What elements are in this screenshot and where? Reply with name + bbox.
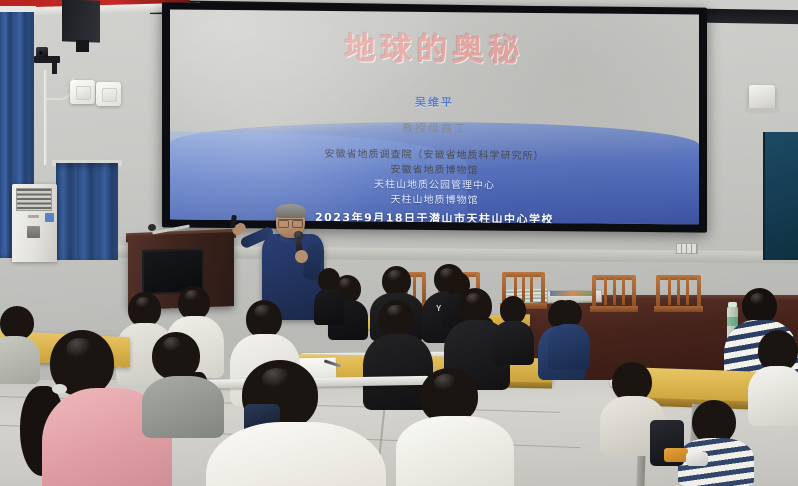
power-outlet[interactable] [676,243,698,254]
notice-board [763,132,798,260]
camera-arm [52,60,57,74]
air-conditioner[interactable] [12,184,57,262]
wall-switch-right[interactable] [96,82,121,106]
air-conditioner-grille [16,188,52,211]
wall-switch-left[interactable] [70,80,95,104]
classroom-door[interactable] [56,163,118,260]
wall-speaker [749,85,775,108]
ceiling-speaker [62,0,100,43]
hair-tie [52,384,67,394]
camera-lens-icon [38,50,44,56]
air-conditioner-sticker [45,213,54,222]
wooden-chair[interactable] [592,275,636,313]
air-conditioner-logo [28,215,39,218]
presenter-glasses [278,219,303,225]
ceiling-speaker-mount [76,40,89,52]
slide-author: 吴维平 [170,91,699,112]
projection-screen-surface: 地球的奥秘 吴维平 教授级高工 安徽省地质调查院（安徽省地质科学研究所） 安徽省… [170,9,699,224]
projection-screen: 地球的奥秘 吴维平 教授级高工 安徽省地质调查院（安徽省地质科学研究所） 安徽省… [162,2,707,232]
air-conditioner-display [27,226,40,238]
gooseneck-microphone-head [148,224,156,231]
handheld-microphone-head [294,231,303,239]
stationery-items [550,291,596,296]
water-bottle-label [727,317,738,326]
shoe [686,452,708,466]
bag-item [664,448,688,462]
water-bottle-cap [728,302,737,307]
classroom-lecture-photo: 地球的奥秘 吴维平 教授级高工 安徽省地质调查院（安徽省地质科学研究所） 安徽省… [0,0,798,486]
presenter-hair [275,204,306,218]
presenter-right-hand [295,250,308,263]
slide-date-line: 2023年9月18日于潜山市天柱山中心学校 [170,208,699,224]
wall-speaker-shelf [745,108,779,112]
slide-title: 地球的奥秘 [170,21,699,71]
slide-organizations: 安徽省地质调查院（安徽省地质科学研究所） 安徽省地质博物馆 天柱山地质公园管理中… [170,145,699,224]
curtain-rail [0,6,36,12]
wooden-chair[interactable] [656,275,701,313]
